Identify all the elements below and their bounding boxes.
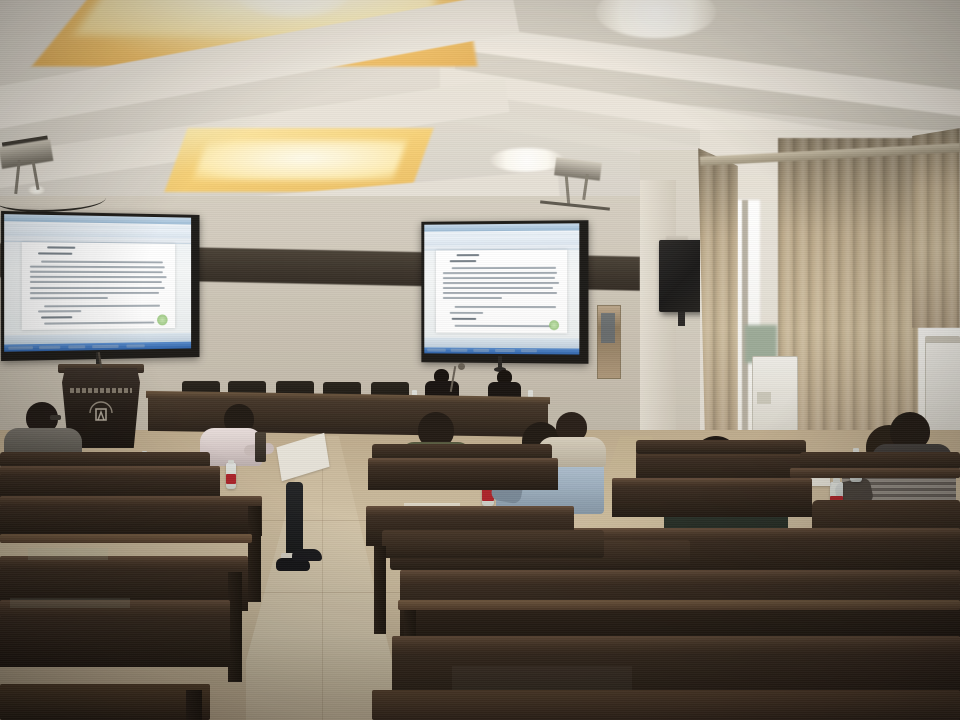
desk-front-c1: [368, 466, 558, 490]
floor-tile-line-2: [235, 592, 415, 593]
desk-leg-l2: [248, 506, 261, 602]
desk-sheen-l4: [10, 598, 130, 608]
leg: [286, 482, 303, 558]
word-document-page-left: [22, 242, 175, 330]
desk-leg-c3: [374, 546, 386, 634]
framed-wall-notice-inner: [601, 313, 615, 343]
desk-leg-l5: [186, 690, 202, 720]
bench-back-r1: [636, 440, 806, 454]
podium-inscription: [70, 388, 132, 393]
windows-taskbar-right: [424, 347, 579, 355]
curtain-right: [912, 128, 960, 328]
desk-front-r2: [612, 487, 812, 517]
vacuum-flask: [255, 432, 266, 462]
desk-front-l4: [0, 617, 230, 667]
desk-front-l2: [0, 506, 262, 536]
water-bottle-2: [226, 463, 236, 489]
dome-light-center: [490, 148, 564, 172]
curtain-center: [778, 138, 918, 458]
screen-right-content: [424, 223, 579, 354]
screen-left-content: [4, 214, 191, 352]
word-green-marker-left: [157, 314, 167, 325]
desk-sheen-l3: [28, 548, 108, 560]
desk-leg-l3: [228, 572, 242, 682]
desk-edge-l3: [0, 534, 252, 543]
glasses-icon: [50, 415, 61, 420]
desk-top-r5: [392, 636, 960, 656]
wall-pillar: [640, 180, 676, 450]
floor-tile-line-3: [322, 436, 323, 720]
word-green-marker-right: [549, 320, 559, 330]
speaker-bracket: [678, 312, 685, 326]
wall-speaker-icon: [659, 240, 703, 312]
university-crest-icon: [88, 400, 114, 426]
projection-screen-left: [1, 211, 199, 361]
desk-top-r6: [372, 690, 960, 720]
desk-top-r4: [400, 570, 960, 586]
projection-screen-right: [421, 220, 588, 364]
desk-edge-r5: [398, 600, 960, 610]
bench-back-c3: [382, 530, 604, 558]
desk-top-l5: [0, 684, 210, 720]
shoe-right: [292, 549, 322, 561]
ceiling-cove-glow-lower-left: [193, 140, 408, 180]
microphone-head-icon: [458, 363, 465, 370]
conference-room-photo: Interior photograph of a university conf…: [0, 0, 960, 720]
desk-front-r4: [400, 585, 960, 637]
desk-top-r1b: [790, 468, 960, 478]
word-document-page-right: [436, 250, 566, 334]
air-conditioner-vent: [757, 392, 771, 404]
